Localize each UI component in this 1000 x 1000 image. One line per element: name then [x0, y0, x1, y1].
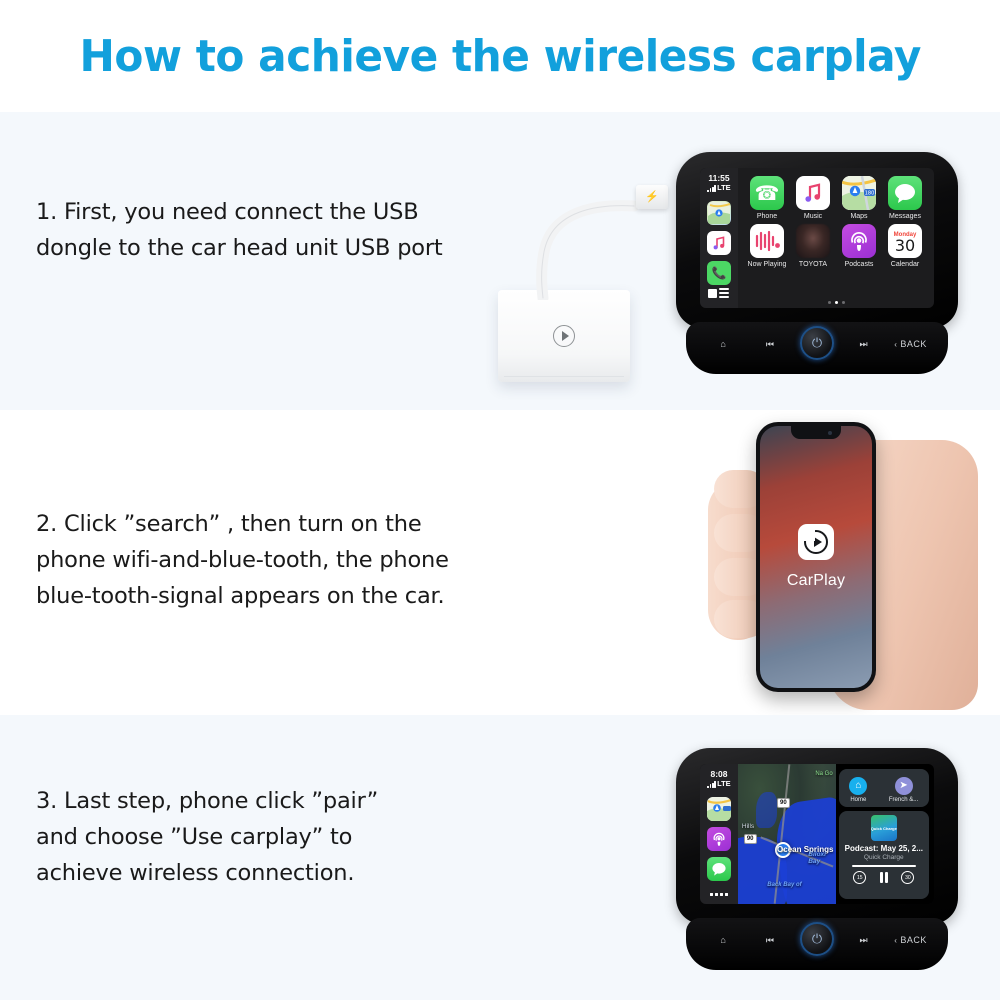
dashboard-widgets: ⌂ Home ➤ French &... Quick Charge	[836, 764, 934, 904]
phone-screen-carplay-splash: CarPlay	[760, 426, 872, 688]
highway-shield: 90	[744, 834, 757, 844]
car-head-unit-step3: 8:08 LTE	[672, 748, 962, 984]
home-icon[interactable]: ⌂	[700, 332, 747, 356]
app-maps[interactable]: 180 Maps	[836, 176, 882, 220]
status-time: 11:55	[708, 173, 729, 183]
calendar-icon: Monday 30	[888, 224, 922, 258]
page-title: How to achieve the wireless carplay	[79, 31, 920, 82]
messages-icon[interactable]	[707, 857, 731, 881]
map-water	[756, 792, 777, 828]
now-playing-icon	[750, 224, 784, 258]
step-1-text: 1. First, you need connect the USB dongl…	[36, 194, 566, 266]
phone-icon[interactable]: 📞	[707, 261, 731, 285]
toyota-icon	[796, 224, 830, 258]
usb-connector: ⚡	[636, 185, 668, 209]
page-header: How to achieve the wireless carplay	[0, 0, 1000, 112]
now-playing-title: Podcast: May 25, 2...	[845, 844, 923, 853]
transport-controls: 15 30	[853, 871, 914, 884]
maps-icon[interactable]	[707, 201, 731, 225]
hand-holding-phone: CarPlay	[700, 418, 1000, 715]
favorite-french[interactable]: ➤ French &...	[889, 777, 918, 803]
maps-icon[interactable]	[707, 797, 731, 821]
usb-cable	[528, 196, 638, 300]
favorites-card: ⌂ Home ➤ French &...	[839, 769, 929, 807]
sidebar-recent-apps	[707, 797, 731, 881]
app-music[interactable]: Music	[790, 176, 836, 220]
svg-text:180: 180	[865, 191, 875, 197]
carplay-sidebar: 8:08 LTE	[700, 764, 738, 904]
progress-bar[interactable]	[852, 865, 916, 867]
network-label: LTE	[717, 183, 731, 192]
app-podcasts[interactable]: Podcasts	[836, 224, 882, 268]
back-label: BACK	[900, 935, 927, 945]
music-icon[interactable]	[707, 231, 731, 255]
app-label: Now Playing	[748, 261, 787, 268]
page-indicator[interactable]	[738, 301, 934, 304]
home-icon: ⌂	[849, 777, 867, 795]
favorite-label: Home	[850, 797, 866, 803]
smartphone: CarPlay	[756, 422, 876, 692]
app-grid-icon[interactable]	[710, 893, 728, 896]
home-icon[interactable]: ⌂	[700, 928, 747, 952]
carplay-screen-dashboard: 8:08 LTE	[700, 764, 934, 904]
next-track-icon[interactable]: ⏭	[840, 928, 887, 952]
back-icon[interactable]: ‹ BACK	[887, 332, 934, 356]
status-time: 8:08	[710, 769, 727, 779]
previous-track-icon[interactable]: ⏮	[747, 332, 794, 356]
app-label: Calendar	[891, 261, 919, 268]
podcasts-icon[interactable]	[707, 827, 731, 851]
carplay-sidebar: 11:55 LTE	[700, 168, 738, 308]
phone-notch	[791, 426, 841, 439]
maps-icon: 180	[842, 176, 876, 210]
now-playing-subtitle: Quick Charge	[864, 854, 904, 861]
music-icon	[796, 176, 830, 210]
network-label: LTE	[717, 779, 731, 788]
app-label: Maps	[850, 213, 867, 220]
app-label: Messages	[889, 213, 921, 220]
directions-icon: ➤	[895, 777, 913, 795]
carplay-screen-home: 11:55 LTE	[700, 168, 934, 308]
play-circle-icon	[553, 325, 575, 347]
status-network: LTE	[707, 779, 730, 788]
map-water-label: Biloxi Bay	[808, 851, 835, 865]
app-phone[interactable]: ☎ Phone	[744, 176, 790, 220]
podcast-artwork: Quick Charge	[871, 815, 897, 841]
app-label: Phone	[757, 213, 777, 220]
favorite-home[interactable]: ⌂ Home	[849, 777, 867, 803]
favorite-label: French &...	[889, 797, 918, 803]
messages-icon	[888, 176, 922, 210]
pause-icon[interactable]	[880, 872, 889, 883]
signal-bars-icon	[707, 185, 716, 192]
step-2-text: 2. Click ”search” , then turn on the pho…	[36, 506, 576, 614]
skip-forward-icon[interactable]: 30	[901, 871, 914, 884]
phone-icon: ☎	[750, 176, 784, 210]
app-now-playing[interactable]: Now Playing	[744, 224, 790, 268]
next-track-icon[interactable]: ⏭	[840, 332, 887, 356]
map-corner-label: Na Go	[815, 771, 832, 777]
highway-shield: 90	[777, 798, 790, 808]
power-icon[interactable]: ⏻	[800, 922, 834, 956]
podcasts-icon	[842, 224, 876, 258]
signal-bars-icon	[707, 781, 716, 788]
app-messages[interactable]: Messages	[882, 176, 928, 220]
map-water-label-2: Back Bay of	[767, 882, 801, 888]
app-label: TOYOTA	[799, 261, 827, 268]
carplay-dashboard: 90 90 Hills ➤ Ocean Springs Biloxi Bay B…	[738, 764, 934, 904]
skip-back-icon[interactable]: 15	[853, 871, 866, 884]
map-widget[interactable]: 90 90 Hills ➤ Ocean Springs Biloxi Bay B…	[738, 764, 836, 904]
power-icon[interactable]: ⏻	[800, 326, 834, 360]
app-label: Music	[804, 213, 822, 220]
head-unit-bezel: 8:08 LTE	[676, 748, 958, 924]
sidebar-recent-apps: 📞	[707, 201, 731, 285]
back-icon[interactable]: ‹ BACK	[887, 928, 934, 952]
head-unit-bezel: 11:55 LTE	[676, 152, 958, 328]
app-list-icon[interactable]	[708, 286, 730, 300]
lightning-bolt-icon: ⚡	[645, 192, 659, 203]
calendar-day: 30	[895, 238, 915, 254]
back-label: BACK	[900, 339, 927, 349]
status-network: LTE	[707, 183, 730, 192]
step-3-text: 3. Last step, phone click ”pair” and cho…	[36, 783, 506, 891]
app-label: Podcasts	[845, 261, 874, 268]
app-calendar[interactable]: Monday 30 Calendar	[882, 224, 928, 268]
carplay-app-grid: ☎ Phone Mu	[738, 168, 934, 308]
usb-dongle	[498, 290, 630, 382]
map-secondary-label: Hills	[742, 823, 754, 830]
now-playing-card[interactable]: Quick Charge Podcast: May 25, 2... Quick…	[839, 811, 929, 899]
artwork-text: Quick Charge	[871, 826, 897, 831]
head-unit-button-bar: ⌂ ⏮ ⏭ ‹ BACK ⏻	[686, 322, 948, 374]
car-head-unit-step1: 11:55 LTE	[672, 152, 962, 388]
head-unit-button-bar: ⌂ ⏮ ⏭ ‹ BACK ⏻	[686, 918, 948, 970]
app-toyota[interactable]: TOYOTA	[790, 224, 836, 268]
previous-track-icon[interactable]: ⏮	[747, 928, 794, 952]
infographic-page: How to achieve the wireless carplay 1. F…	[0, 0, 1000, 1000]
carplay-logo-icon	[798, 524, 834, 560]
carplay-app-name: CarPlay	[787, 572, 845, 590]
